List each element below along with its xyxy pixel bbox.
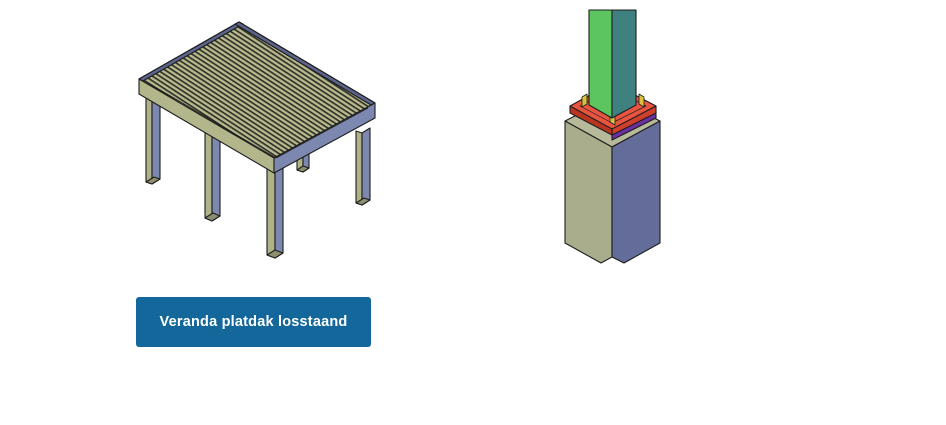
veranda-post-front-right (267, 161, 283, 258)
veranda-platdak-losstaand-button[interactable]: Veranda platdak losstaand (136, 297, 371, 347)
veranda-flat-roof-freestanding-3d (0, 0, 500, 290)
page-stage: Veranda platdak losstaand (0, 0, 946, 425)
product-card-veranda: Veranda platdak losstaand (0, 0, 500, 425)
steel-column (589, 10, 636, 118)
product-card-voetplaat: Voetplaat aanbrengen (460, 0, 946, 425)
veranda-illustration (0, 0, 500, 290)
veranda-post-back-right (356, 128, 370, 205)
voetplaat-illustration (460, 0, 946, 290)
column-face-left (589, 10, 612, 118)
column-base-plate-on-concrete-pier-3d (460, 0, 946, 290)
column-face-right (612, 10, 636, 118)
